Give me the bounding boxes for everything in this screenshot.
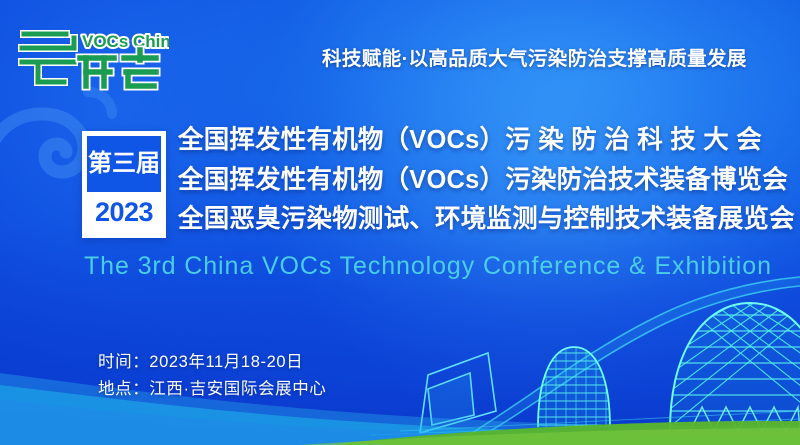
exhibition-center-illustration bbox=[370, 255, 800, 445]
event-venue: 地点：江西·吉安国际会展中心 bbox=[98, 376, 326, 403]
badge-edition-label: 第三届 bbox=[87, 136, 161, 192]
subtitle-english: The 3rd China VOCs Technology Conference… bbox=[84, 254, 784, 279]
badge-year-label: 2023 bbox=[87, 192, 161, 233]
svg-text:VOCs China: VOCs China bbox=[82, 32, 169, 51]
title-line-3: 全国恶臭污染物测试、环境监测与控制技术装备展览会 bbox=[178, 207, 790, 233]
title-line-2: 全国挥发性有机物（VOCs）污染防治技术装备博览会 bbox=[178, 168, 790, 194]
event-slogan: 科技赋能·以高品质大气污染防治支撑高质量发展 bbox=[322, 48, 782, 71]
grass-strip-decoration bbox=[0, 405, 800, 445]
edition-year-badge: 第三届 2023 bbox=[82, 131, 166, 238]
title-line-1-spaced: 污染防治科技大会 bbox=[505, 126, 769, 154]
title-group: 全国挥发性有机物（VOCs）污染防治科技大会 全国挥发性有机物（VOCs）污染防… bbox=[178, 128, 790, 245]
event-meta: 时间：2023年11月18-20日 地点：江西·吉安国际会展中心 bbox=[98, 349, 326, 403]
conference-banner: VOCs China VOCs China bbox=[0, 0, 800, 445]
title-line-1-main: 全国挥发性有机物（VOCs） bbox=[178, 126, 505, 154]
title-line-1: 全国挥发性有机物（VOCs）污染防治科技大会 bbox=[178, 128, 790, 154]
event-logo: VOCs China VOCs China bbox=[14, 16, 169, 96]
event-date: 时间：2023年11月18-20日 bbox=[98, 349, 326, 376]
